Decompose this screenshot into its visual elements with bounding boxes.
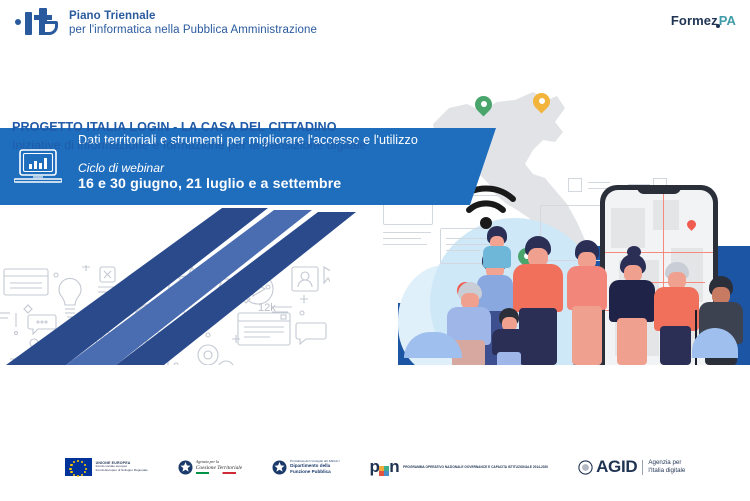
footer-logo-bar: UNIONE EUROPEA Fondo sociale europeo Fon… <box>0 441 750 501</box>
pon-line-1: PROGRAMMA OPERATIVO NAZIONALE GOVERNANCE… <box>403 465 548 469</box>
sketch-line-b <box>383 238 421 239</box>
person-child-shoulders <box>481 226 515 266</box>
page-title: PROGETTO ITALIA LOGIN - LA CASA DEL CITT… <box>12 120 367 134</box>
it-dot-icon <box>14 8 60 38</box>
banner-diagonal-edge <box>470 128 496 205</box>
repubblica-text: Agenzia per la Coesione Territoriale <box>196 460 242 474</box>
pon-governance-logo: pn PROGRAMMA OPERATIVO NAZIONALE GOVERNA… <box>370 457 549 477</box>
title-block: PROGETTO ITALIA LOGIN - LA CASA DEL CITT… <box>12 120 367 152</box>
person-woman-coral-dress <box>563 240 611 365</box>
pin-yellow-northeast <box>533 93 550 116</box>
banner-dates: 16 e 30 giugno, 21 luglio e a settembre <box>78 176 341 192</box>
formez-word: Formez <box>671 13 718 28</box>
logo-line-2: per l'informatica nella Pubblica Amminis… <box>69 23 317 37</box>
dipartimento-line-3: Funzione Pubblica <box>290 469 339 475</box>
european-union-logo: UNIONE EUROPEA Fondo sociale europeo Fon… <box>65 458 148 476</box>
piano-triennale-wordmark: Piano Triennale per l'informatica nella … <box>69 9 317 37</box>
pin-green-north <box>475 96 492 119</box>
sketch-line-c <box>383 244 427 245</box>
pon-wordmark: pn <box>370 457 400 477</box>
sketch-box-top-1 <box>568 178 582 192</box>
dipartimento-text: Presidenza del Consiglio dei Ministri Di… <box>290 459 339 475</box>
agid-divider <box>642 460 643 475</box>
formez-pa-logo: FormezPA <box>671 13 736 28</box>
agid-wordmark: AGID <box>596 457 637 477</box>
eu-line-3: Fondo Europeo di Sviluppo Regionale <box>96 469 148 473</box>
formez-pa-word: PA <box>719 13 736 28</box>
agid-line-1: Agenzia per <box>648 459 685 467</box>
hero-illustration: 12k <box>0 60 750 365</box>
tricolore-bar-icon <box>196 472 236 474</box>
eu-flag-icon <box>65 458 92 476</box>
agid-emblem-icon <box>578 459 593 476</box>
agid-subtitle: Agenzia per l'Italia digitale <box>648 459 685 475</box>
person-boy-front <box>489 308 529 365</box>
laptop-chart-icon <box>14 148 62 186</box>
piano-triennale-logo: Piano Triennale per l'informatica nella … <box>14 8 317 38</box>
repubblica-line-2: Coesione Territoriale <box>196 465 242 471</box>
page-header: Piano Triennale per l'informatica nella … <box>0 0 750 60</box>
agid-logo: AGID Agenzia per l'Italia digitale <box>578 457 685 477</box>
dipartimento-emblem-icon <box>272 459 287 476</box>
formez-dot-icon <box>716 24 720 28</box>
person-woman-navy-dress <box>607 252 657 365</box>
outline-icon-cloud: 12k <box>0 265 330 365</box>
pon-subtitle: PROGRAMMA OPERATIVO NAZIONALE GOVERNANCE… <box>403 465 548 469</box>
phone-notch <box>637 185 681 194</box>
dipartimento-funzione-pubblica-logo: Presidenza del Consiglio dei Ministri Di… <box>272 459 339 476</box>
sketch-dash-1 <box>588 182 610 183</box>
stat-badge-text: 12k <box>258 302 276 314</box>
banner-kicker: Ciclo di webinar <box>78 161 164 175</box>
agid-line-2: l'Italia digitale <box>648 467 685 475</box>
sketch-line-a <box>383 232 431 233</box>
logo-line-1: Piano Triennale <box>69 9 317 23</box>
repubblica-emblem-icon <box>178 459 193 476</box>
poster-canvas: Piano Triennale per l'informatica nella … <box>0 0 750 501</box>
repubblica-italiana-logo: Agenzia per la Coesione Territoriale <box>178 459 242 476</box>
page-subtitle: Iniziative di informazione e formazione … <box>12 138 367 152</box>
eu-logo-text: UNIONE EUROPEA Fondo sociale europeo Fon… <box>96 461 148 473</box>
